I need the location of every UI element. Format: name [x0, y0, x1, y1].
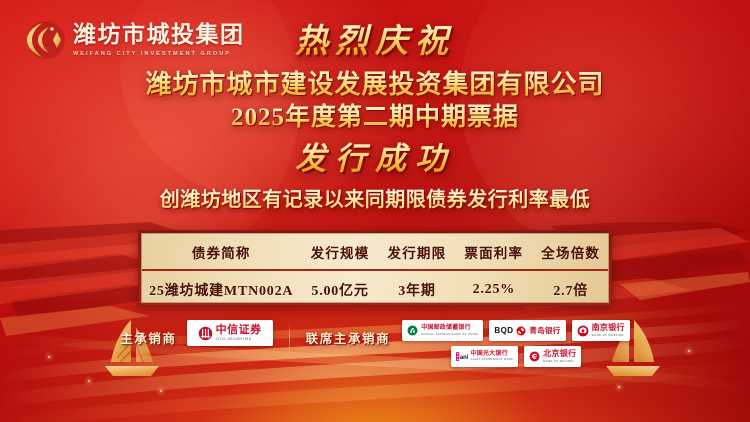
headline-congratulation: 热烈庆祝 — [0, 22, 750, 63]
psbc-horse-emblem-icon — [407, 325, 418, 336]
cell-oversubscription: 2.7倍 — [533, 270, 608, 308]
table-row: 25潍坊城建MTN002A 5.00亿元 3年期 2.25% 2.7倍 — [142, 270, 608, 308]
logo-nanjing-name-en: BANK OF NANJING — [592, 334, 624, 337]
cell-tenor: 3年期 — [380, 270, 455, 308]
bank-logo-row-1: 中国邮政储蓄银行 POSTAL SAVINGS BANK OF CHINA BQ… — [402, 320, 630, 341]
table-header-issue-size: 发行规模 — [300, 234, 379, 270]
bond-details-table: 债券简称 发行规模 发行期限 票面利率 全场倍数 25潍坊城建MTN002A 5… — [138, 230, 612, 306]
headline-company-name: 潍坊市城市建设发展投资集团有限公司 — [0, 67, 750, 102]
cell-issue-size: 5.00亿元 — [300, 270, 379, 308]
logo-bank-of-nanjing: 南京银行 BANK OF NANJING — [572, 320, 630, 341]
lead-underwriter-label: 主承销商 — [120, 328, 176, 347]
beijing-coin-emblem-icon — [529, 351, 540, 362]
logo-psbc-name-cn: 中国邮政储蓄银行 — [421, 325, 471, 331]
logo-everbright-name-cn: 中国光大银行 — [471, 351, 508, 357]
lead-underwriter-group: 主承销商 中信证券 CITIC SECURITIES — [120, 320, 272, 347]
logo-beijing-name-en: BANK OF BEIJING — [543, 360, 574, 363]
headline-record-note: 创潍坊地区有记录以来同期限债券发行利率最低 — [0, 187, 750, 213]
logo-citic-name-cn: 中信证券 — [216, 325, 262, 336]
celebration-poster: 潍坊市城投集团 WEIFANG CITY INVESTMENT GROUP 热烈… — [0, 0, 750, 422]
sparkle — [618, 386, 620, 388]
table-header-coupon-rate: 票面利率 — [454, 234, 533, 270]
logo-bqd-code: BQD — [494, 327, 513, 335]
table-header-row: 债券简称 发行规模 发行期限 票面利率 全场倍数 — [142, 234, 608, 270]
bank-logo-grid: 中国邮政储蓄银行 POSTAL SAVINGS BANK OF CHINA BQ… — [402, 320, 630, 367]
sparkle — [160, 390, 162, 392]
logo-bank-of-beijing: 北京银行 BANK OF BEIJING — [524, 346, 581, 367]
joint-underwriter-group: 联席主承销商 中国邮政储蓄银行 POSTAL SAVINGS BANK OF C… — [306, 320, 630, 367]
logo-citic-name-en: CITIC SECURITIES — [216, 338, 252, 341]
cell-bond-name: 25潍坊城建MTN002A — [142, 270, 300, 308]
logo-bank-of-qingdao: BQD 青岛银行 — [489, 320, 565, 341]
bank-logo-row-2: ank 中国光大银行 CHINA EVERBRIGHT BANK — [402, 346, 630, 367]
citic-circle-emblem-icon — [198, 326, 213, 341]
logo-citic-securities: 中信证券 CITIC SECURITIES — [187, 320, 273, 346]
logo-everbright-name-en: CHINA EVERBRIGHT BANK — [471, 359, 514, 362]
headline-instrument: 2025年度第二期中期票据 — [0, 102, 750, 135]
cell-coupon-rate: 2.25% — [454, 270, 533, 308]
logo-everbright-bank: ank 中国光大银行 CHINA EVERBRIGHT BANK — [451, 346, 519, 367]
headline-block: 热烈庆祝 潍坊市城市建设发展投资集团有限公司 2025年度第二期中期票据 发行成… — [0, 22, 750, 213]
everbright-e-emblem-icon: ank — [456, 351, 468, 362]
table-header-tenor: 发行期限 — [380, 234, 455, 270]
underwriter-divider — [289, 322, 290, 356]
logo-beijing-name-cn: 北京银行 — [543, 350, 576, 358]
logo-psbc: 中国邮政储蓄银行 POSTAL SAVINGS BANK OF CHINA — [402, 320, 483, 341]
logo-bqd-name-cn: 青岛银行 — [529, 327, 560, 335]
svg-text:ank: ank — [459, 355, 467, 361]
logo-nanjing-name-cn: 南京银行 — [592, 324, 625, 332]
bqd-circle-emblem-icon — [516, 326, 526, 336]
table-header-oversubscription: 全场倍数 — [533, 234, 608, 270]
underwriters-strip: 主承销商 中信证券 CITIC SECURITIES 联席主承销商 — [0, 320, 750, 382]
logo-psbc-name-en: POSTAL SAVINGS BANK OF CHINA — [421, 333, 478, 336]
joint-underwriter-label: 联席主承销商 — [306, 328, 391, 347]
nanjing-knot-emblem-icon — [577, 325, 589, 337]
headline-success: 发行成功 — [0, 139, 750, 179]
table-header-bond-name: 债券简称 — [142, 234, 300, 270]
